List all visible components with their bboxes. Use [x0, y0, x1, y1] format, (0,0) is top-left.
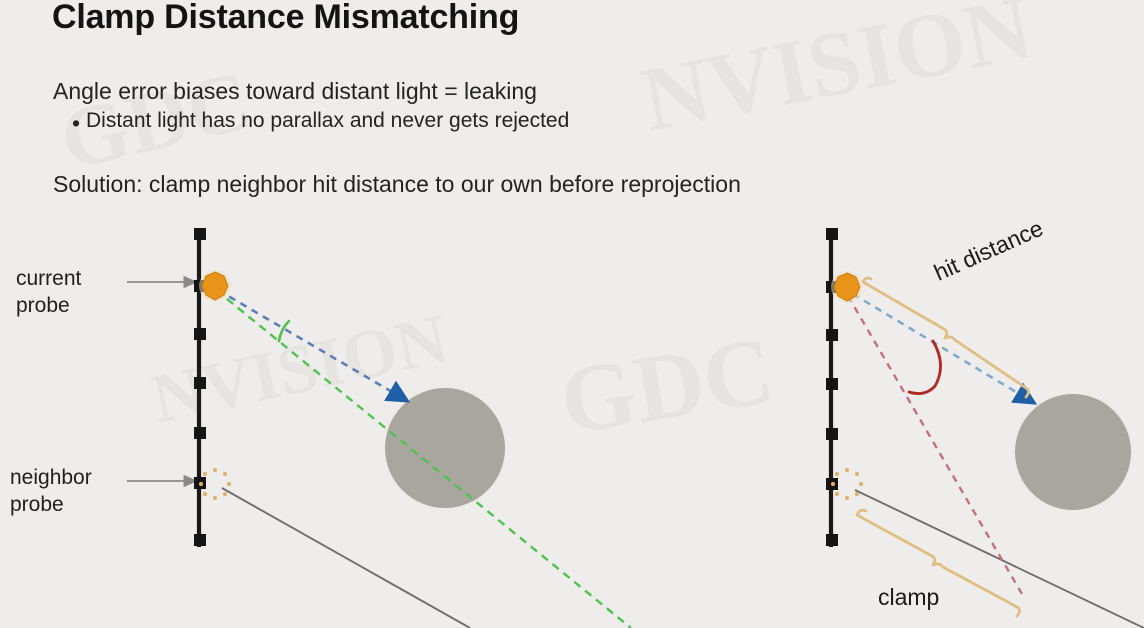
label-neighbor-probe-line2: probe	[10, 491, 92, 518]
label-neighbor-probe-line1: neighbor	[10, 464, 92, 491]
red-dashed-ray	[848, 296, 1022, 594]
label-current-probe: current probe	[16, 265, 81, 320]
label-clamp: clamp	[878, 584, 939, 611]
label-current-probe-line2: probe	[16, 292, 81, 319]
current-probe-marker	[199, 270, 231, 302]
diagram-right	[826, 228, 1144, 628]
blue-dashed-ray	[218, 290, 399, 396]
diagram-left	[127, 228, 631, 628]
diagrams-svg	[0, 0, 1144, 628]
angle-arc-red	[909, 341, 941, 394]
current-probe-marker	[831, 271, 863, 303]
occluder-circle	[1015, 394, 1131, 510]
blue-dashed-ray	[853, 294, 1026, 398]
slide-root: GDC NVISION GDC NVISION Clamp Distance M…	[0, 0, 1144, 628]
occluder-circle	[385, 388, 505, 508]
label-current-probe-line1: current	[16, 265, 81, 292]
hit-distance-brace	[863, 278, 1029, 397]
label-neighbor-probe: neighbor probe	[10, 464, 92, 519]
